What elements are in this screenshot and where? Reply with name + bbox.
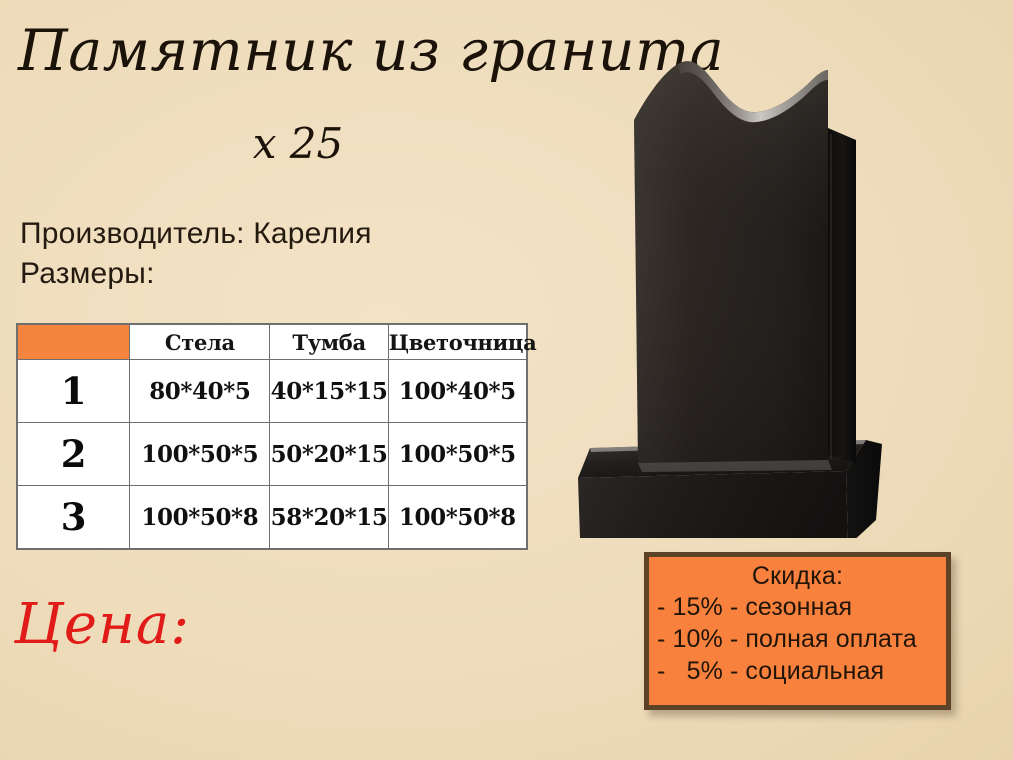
- sizes-line: Размеры:: [20, 254, 540, 294]
- cell-tumba: 50*20*15: [270, 423, 388, 486]
- row-index: 2: [18, 423, 130, 486]
- cell-flower: 100*50*5: [388, 423, 526, 486]
- row-index: 3: [18, 486, 130, 549]
- table-header-flower: Цветочница: [388, 325, 526, 360]
- cell-flower: 100*40*5: [388, 360, 526, 423]
- stele-side-face: [828, 128, 856, 463]
- row-index: 1: [18, 360, 130, 423]
- cell-flower: 100*50*8: [388, 486, 526, 549]
- table-row: 1 80*40*5 40*15*15 100*40*5: [18, 360, 527, 423]
- cell-stela: 80*40*5: [130, 360, 270, 423]
- monument-illustration: [556, 8, 936, 538]
- cell-stela: 100*50*5: [130, 423, 270, 486]
- table-header-blank: [18, 325, 130, 360]
- base-front-face: [578, 471, 848, 538]
- price-label: Цена:: [14, 592, 190, 657]
- cell-tumba: 40*15*15: [270, 360, 388, 423]
- table-row: 2 100*50*5 50*20*15 100*50*5: [18, 423, 527, 486]
- info-block: Производитель: Карелия Размеры:: [20, 214, 540, 293]
- discount-box: Скидка: - 15% - сезонная - 10% - полная …: [644, 552, 951, 710]
- cell-stela: 100*50*8: [130, 486, 270, 549]
- manufacturer-line: Производитель: Карелия: [20, 214, 540, 254]
- discount-line-full-payment: - 10% - полная оплата: [649, 623, 946, 655]
- slide-canvas: Памятник из гранита х 25 Производитель: …: [0, 0, 1013, 760]
- stele-front-shading: [634, 61, 828, 463]
- page-title: Памятник из гранита: [18, 22, 598, 82]
- page-subtitle: х 25: [18, 122, 578, 166]
- table-row: 3 100*50*8 58*20*15 100*50*8: [18, 486, 527, 549]
- discount-line-seasonal: - 15% - сезонная: [649, 591, 946, 623]
- granite-monument-image: [556, 8, 936, 538]
- table-header-tumba: Тумба: [270, 325, 388, 360]
- sizes-table: Стела Тумба Цветочница 1 80*40*5 40*15*1…: [17, 324, 527, 549]
- table-header-stela: Стела: [130, 325, 270, 360]
- discount-line-social: - 5% - социальная: [649, 655, 946, 687]
- discount-title: Скидка:: [649, 562, 946, 591]
- cell-tumba: 58*20*15: [270, 486, 388, 549]
- table-header-row: Стела Тумба Цветочница: [18, 325, 527, 360]
